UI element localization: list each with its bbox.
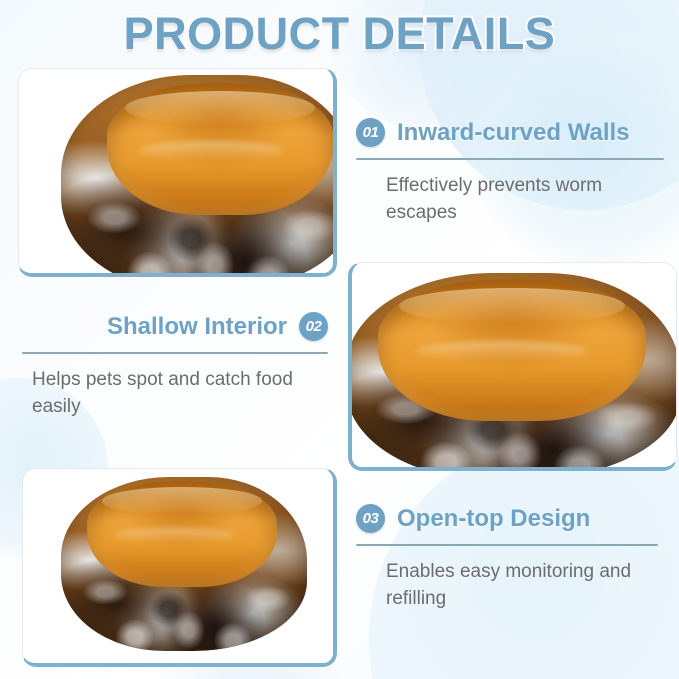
feature-block-1: 01 Inward-curved Walls Effectively preve… [356, 118, 664, 227]
rock-bowl-basin-3 [87, 481, 277, 587]
feature-2-divider [22, 352, 328, 354]
feature-1-title: Inward-curved Walls [397, 119, 630, 147]
feature-3-description: Enables easy monitoring and refilling [356, 559, 658, 613]
feature-2-heading: Shallow Interior 02 [22, 312, 328, 341]
feature-1-heading: 01 Inward-curved Walls [356, 118, 664, 147]
product-photo-card-3 [22, 468, 337, 667]
product-photo-3 [23, 469, 333, 663]
rock-bowl-basin-2 [378, 279, 646, 421]
feature-3-number-badge: 03 [356, 504, 385, 533]
feature-1-number-badge: 01 [356, 118, 385, 147]
feature-block-3: 03 Open-top Design Enables easy monitori… [356, 504, 658, 613]
feature-2-title: Shallow Interior [107, 313, 287, 341]
feature-2-description: Helps pets spot and catch food easily [22, 367, 328, 421]
feature-3-divider [356, 544, 658, 546]
product-photo-card-1 [18, 68, 337, 277]
feature-3-heading: 03 Open-top Design [356, 504, 658, 533]
product-details-infographic: PRODUCT DETAILS 01 Inward-curved Walls E… [0, 0, 679, 679]
rock-bowl-basin-1 [107, 83, 333, 215]
feature-2-number-badge: 02 [299, 312, 328, 341]
feature-block-2: Shallow Interior 02 Helps pets spot and … [22, 312, 328, 421]
feature-1-description: Effectively prevents worm escapes [356, 173, 664, 227]
feature-1-divider [356, 158, 664, 160]
product-photo-1 [19, 69, 333, 273]
page-title: PRODUCT DETAILS [0, 8, 679, 60]
product-photo-card-2 [348, 262, 677, 471]
feature-3-title: Open-top Design [397, 505, 590, 533]
product-photo-2 [352, 263, 676, 467]
